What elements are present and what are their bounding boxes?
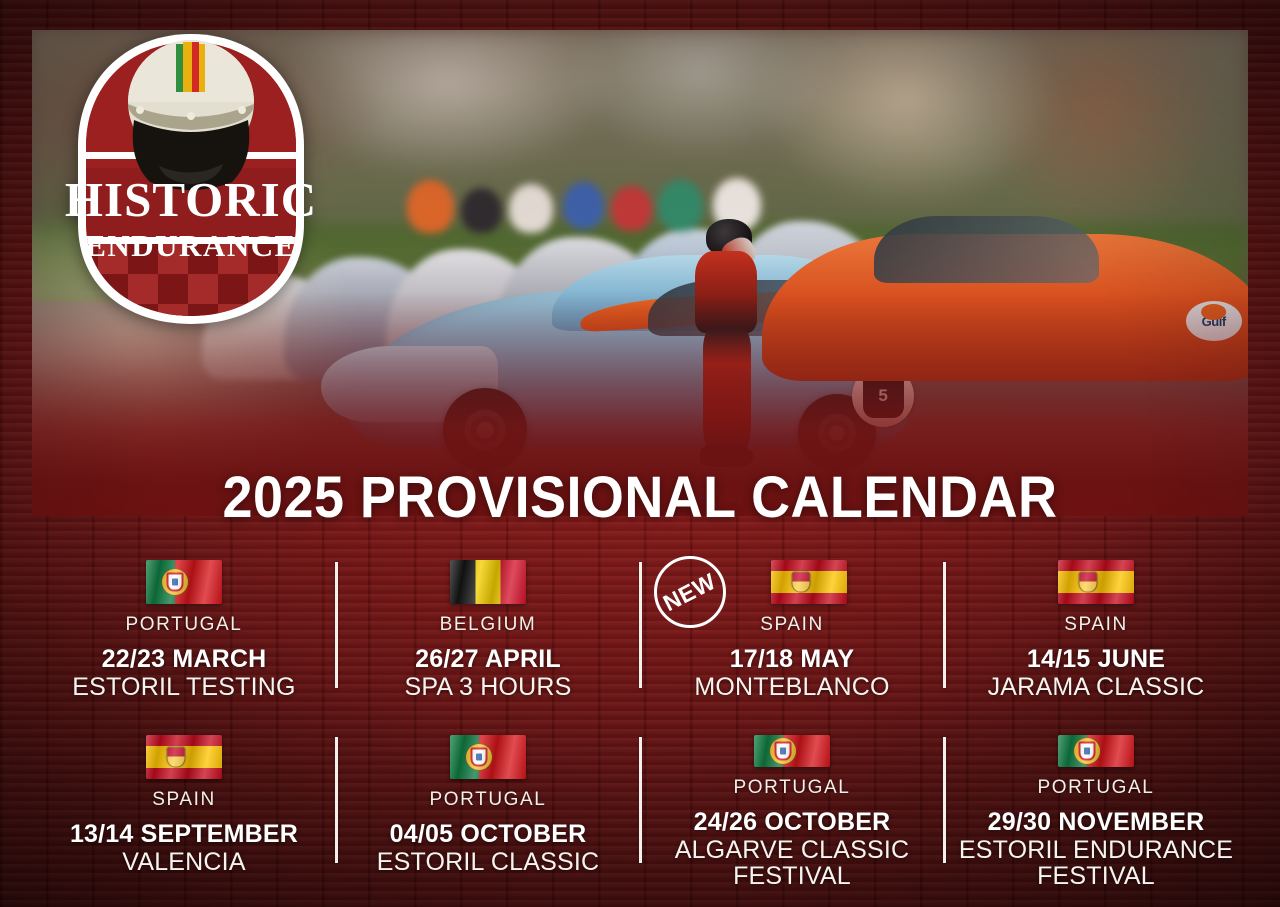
event-country: PORTUGAL <box>430 789 547 811</box>
calendar-row-2: SPAIN 13/14 SEPTEMBER VALENCIA PORTUGAL … <box>32 729 1248 889</box>
spain-flag-icon <box>771 560 847 604</box>
event-card[interactable]: PORTUGAL 29/30 NOVEMBER ESTORIL ENDURANC… <box>944 729 1248 889</box>
calendar-row-1: PORTUGAL 22/23 MARCH ESTORIL TESTING BEL… <box>32 554 1248 714</box>
event-country: PORTUGAL <box>1038 777 1155 799</box>
spain-flag-icon <box>146 735 222 779</box>
poster-root: 5 Gulf <box>0 0 1280 907</box>
portugal-flag-icon <box>1058 735 1134 767</box>
event-card[interactable]: NEW SPAIN 17/18 MAY MONTEBLANCO <box>640 554 944 714</box>
spain-flag-icon <box>1058 560 1134 604</box>
logo-wordmark-top: HISTORIC <box>65 172 317 227</box>
portugal-flag-icon <box>754 735 830 767</box>
event-card[interactable]: PORTUGAL 04/05 OCTOBER ESTORIL CLASSIC <box>336 729 640 889</box>
event-country: SPAIN <box>760 614 824 636</box>
event-dates: 26/27 APRIL <box>415 645 561 674</box>
event-card[interactable]: PORTUGAL 22/23 MARCH ESTORIL TESTING <box>32 554 336 714</box>
event-country: BELGIUM <box>440 614 537 636</box>
historic-endurance-logo: HISTORIC ENDURANCE <box>64 28 318 328</box>
logo-wordmark-bottom: ENDURANCE <box>85 228 297 263</box>
portugal-flag-icon <box>146 560 222 604</box>
event-card[interactable]: SPAIN 13/14 SEPTEMBER VALENCIA <box>32 729 336 889</box>
event-dates: 13/14 SEPTEMBER <box>70 820 298 849</box>
event-card[interactable]: SPAIN 14/15 JUNE JARAMA CLASSIC <box>944 554 1248 714</box>
event-dates: 24/26 OCTOBER <box>694 808 891 837</box>
event-dates: 22/23 MARCH <box>102 645 267 674</box>
new-badge: NEW <box>654 556 726 628</box>
portugal-flag-icon <box>450 735 526 779</box>
event-venue: SPA 3 HOURS <box>404 675 571 701</box>
event-country: SPAIN <box>1064 614 1128 636</box>
event-dates: 14/15 JUNE <box>1027 645 1165 674</box>
new-badge-label: NEW <box>659 567 720 616</box>
event-dates: 29/30 NOVEMBER <box>988 808 1205 837</box>
event-venue: ESTORIL CLASSIC <box>377 850 600 876</box>
event-venue: JARAMA CLASSIC <box>988 675 1205 701</box>
event-venue: ESTORIL ENDURANCE FESTIVAL <box>959 838 1233 889</box>
event-venue: MONTEBLANCO <box>694 675 889 701</box>
event-venue: ESTORIL TESTING <box>72 675 295 701</box>
event-dates: 04/05 OCTOBER <box>390 820 587 849</box>
belgium-flag-icon <box>450 560 526 604</box>
event-card[interactable]: PORTUGAL 24/26 OCTOBER ALGARVE CLASSIC F… <box>640 729 944 889</box>
calendar-grid: PORTUGAL 22/23 MARCH ESTORIL TESTING BEL… <box>32 548 1248 888</box>
event-venue: VALENCIA <box>122 850 245 876</box>
event-venue: ALGARVE CLASSIC FESTIVAL <box>675 838 910 889</box>
event-card[interactable]: BELGIUM 26/27 APRIL SPA 3 HOURS <box>336 554 640 714</box>
event-country: PORTUGAL <box>734 777 851 799</box>
event-dates: 17/18 MAY <box>730 645 855 674</box>
event-country: SPAIN <box>152 789 216 811</box>
page-title: 2025 PROVISIONAL CALENDAR <box>45 464 1235 531</box>
event-country: PORTUGAL <box>126 614 243 636</box>
